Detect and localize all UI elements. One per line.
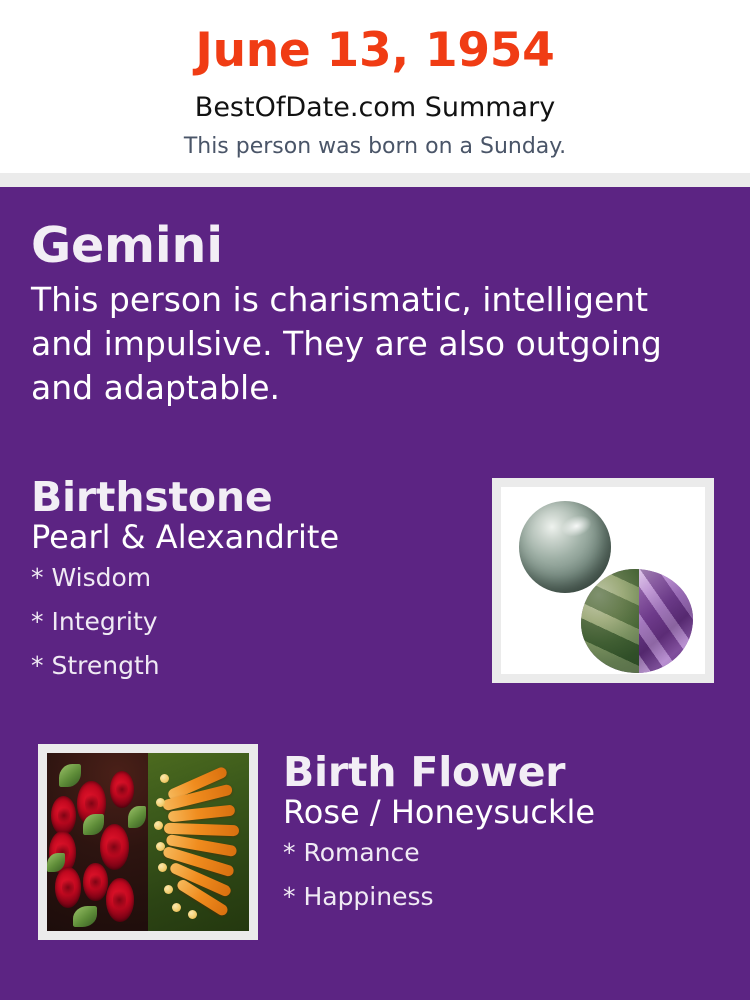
alexandrite-gem-icon <box>581 569 693 673</box>
card-header: June 13, 1954 BestOfDate.com Summary Thi… <box>0 0 750 173</box>
birthflower-section: Birth Flower Rose / Honeysuckle * Romanc… <box>283 750 723 928</box>
zodiac-section: Gemini This person is charismatic, intel… <box>31 220 721 409</box>
birthstone-image-alt: Pearl and alexandrite gemstone photo <box>501 487 502 488</box>
summary-card: June 13, 1954 BestOfDate.com Summary Thi… <box>0 0 750 1000</box>
zodiac-sign-name: Gemini <box>31 220 721 271</box>
birthflower-title: Birth Flower <box>283 750 723 794</box>
honeysuckle-photo-half <box>148 753 249 931</box>
list-item: * Happiness <box>283 884 723 909</box>
birthflower-image: Red roses and orange honeysuckle flowers… <box>47 753 249 931</box>
day-of-week-note: This person was born on a Sunday. <box>0 121 750 158</box>
birthflower-value: Rose / Honeysuckle <box>283 795 723 831</box>
zodiac-description: This person is charismatic, intelligent … <box>31 278 691 409</box>
list-item: * Romance <box>283 840 723 865</box>
birthflower-image-frame: Red roses and orange honeysuckle flowers… <box>38 744 258 940</box>
list-item: * Integrity <box>31 609 471 634</box>
header-divider <box>0 173 750 187</box>
birthstone-image: Pearl and alexandrite gemstone photo <box>501 487 705 674</box>
birthstone-value: Pearl & Alexandrite <box>31 520 471 556</box>
birthflower-trait-list: * Romance * Happiness <box>283 840 723 909</box>
roses-photo-half <box>47 753 148 931</box>
birthstone-section: Birthstone Pearl & Alexandrite * Wisdom … <box>31 475 471 697</box>
list-item: * Wisdom <box>31 565 471 590</box>
site-summary-subtitle: BestOfDate.com Summary <box>0 74 750 121</box>
birthstone-title: Birthstone <box>31 475 471 519</box>
birthstone-trait-list: * Wisdom * Integrity * Strength <box>31 565 471 678</box>
birth-date-title: June 13, 1954 <box>0 0 750 74</box>
alexandrite-faceted-half <box>639 569 693 673</box>
list-item: * Strength <box>31 653 471 678</box>
birthstone-image-frame: Pearl and alexandrite gemstone photo <box>492 478 714 683</box>
alexandrite-rough-half <box>581 569 639 673</box>
details-panel: Gemini This person is charismatic, intel… <box>0 187 750 1000</box>
